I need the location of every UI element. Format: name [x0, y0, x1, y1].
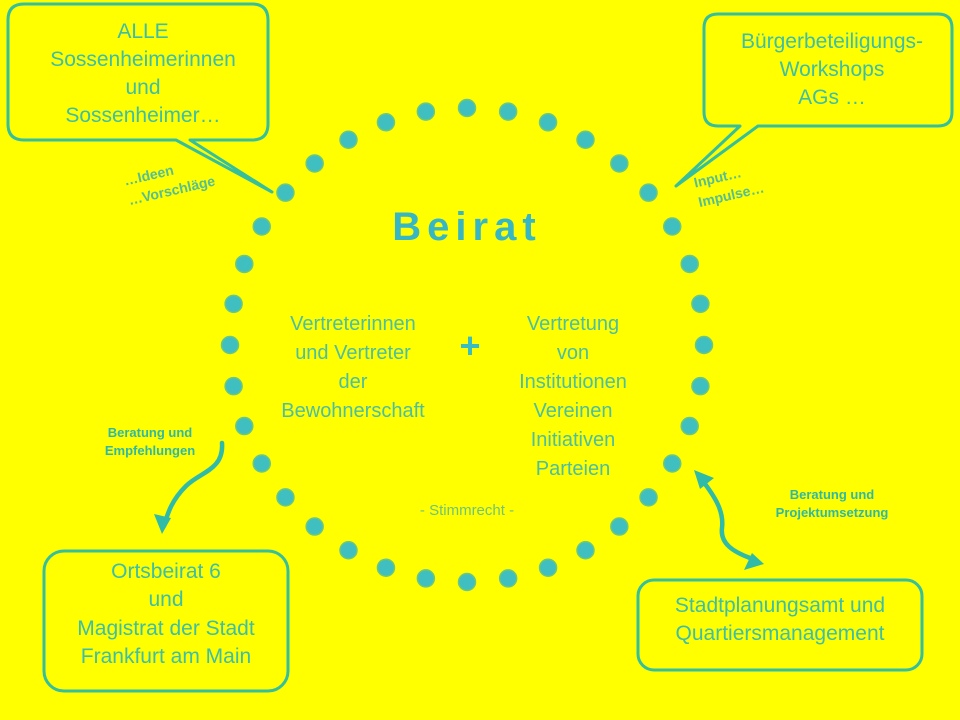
circle-dot — [225, 295, 242, 312]
circle-dot — [577, 542, 594, 559]
circle-dot — [681, 255, 698, 272]
circle-dot — [696, 337, 713, 354]
circle-dot — [500, 103, 517, 120]
circle-dot — [253, 218, 270, 235]
circle-dot — [236, 255, 253, 272]
circle-dot — [692, 295, 709, 312]
circle-dot — [640, 489, 657, 506]
box-bottom-left-label: Ortsbeirat 6 und Magistrat der Stadt Fra… — [48, 558, 284, 671]
circle-dot — [459, 574, 476, 591]
center-left-column: Vertreterinnen und Vertreter der Bewohne… — [268, 310, 438, 426]
circle-dot — [340, 542, 357, 559]
center-footnote: - Stimmrecht - — [377, 502, 557, 519]
circle-dot — [500, 570, 517, 587]
circle-dot — [692, 378, 709, 395]
circle-dot — [277, 489, 294, 506]
circle-dot — [417, 570, 434, 587]
circle-dot — [459, 100, 476, 117]
circle-dot — [640, 184, 657, 201]
circle-dot — [253, 455, 270, 472]
arrow-label-beratung-projektumsetzung: Beratung und Projektumsetzung — [742, 486, 922, 521]
arrow-label-beratung-empfehlungen: Beratung und Empfehlungen — [70, 424, 230, 459]
circle-dot — [377, 559, 394, 576]
circle-dot — [340, 131, 357, 148]
circle-dot — [577, 131, 594, 148]
circle-dot — [611, 155, 628, 172]
bubble-right-label: Bürgerbeteiligungs- Workshops AGs … — [712, 28, 952, 112]
circle-dot — [611, 518, 628, 535]
box-bottom-right-label: Stadtplanungsamt und Quartiersmanagement — [640, 592, 920, 649]
circle-dot — [681, 418, 698, 435]
page-title: Beirat — [307, 205, 627, 250]
circle-dot — [306, 155, 323, 172]
circle-dot — [664, 455, 681, 472]
diagram-canvas: ALLE Sossenheimerinnen und Sossenheimer…… — [0, 0, 960, 720]
circle-dot — [664, 218, 681, 235]
circle-dot — [306, 518, 323, 535]
circle-dot — [540, 114, 557, 131]
plus-icon: + — [440, 328, 500, 364]
circle-dot — [222, 337, 239, 354]
circle-dot — [236, 418, 253, 435]
circle-dot — [277, 184, 294, 201]
circle-dot — [377, 114, 394, 131]
circle-dot — [540, 559, 557, 576]
circle-dot — [417, 103, 434, 120]
bubble-left-label: ALLE Sossenheimerinnen und Sossenheimer… — [14, 18, 272, 130]
circle-dot — [225, 378, 242, 395]
center-right-column: Vertretung von Institutionen Vereinen In… — [493, 310, 653, 484]
